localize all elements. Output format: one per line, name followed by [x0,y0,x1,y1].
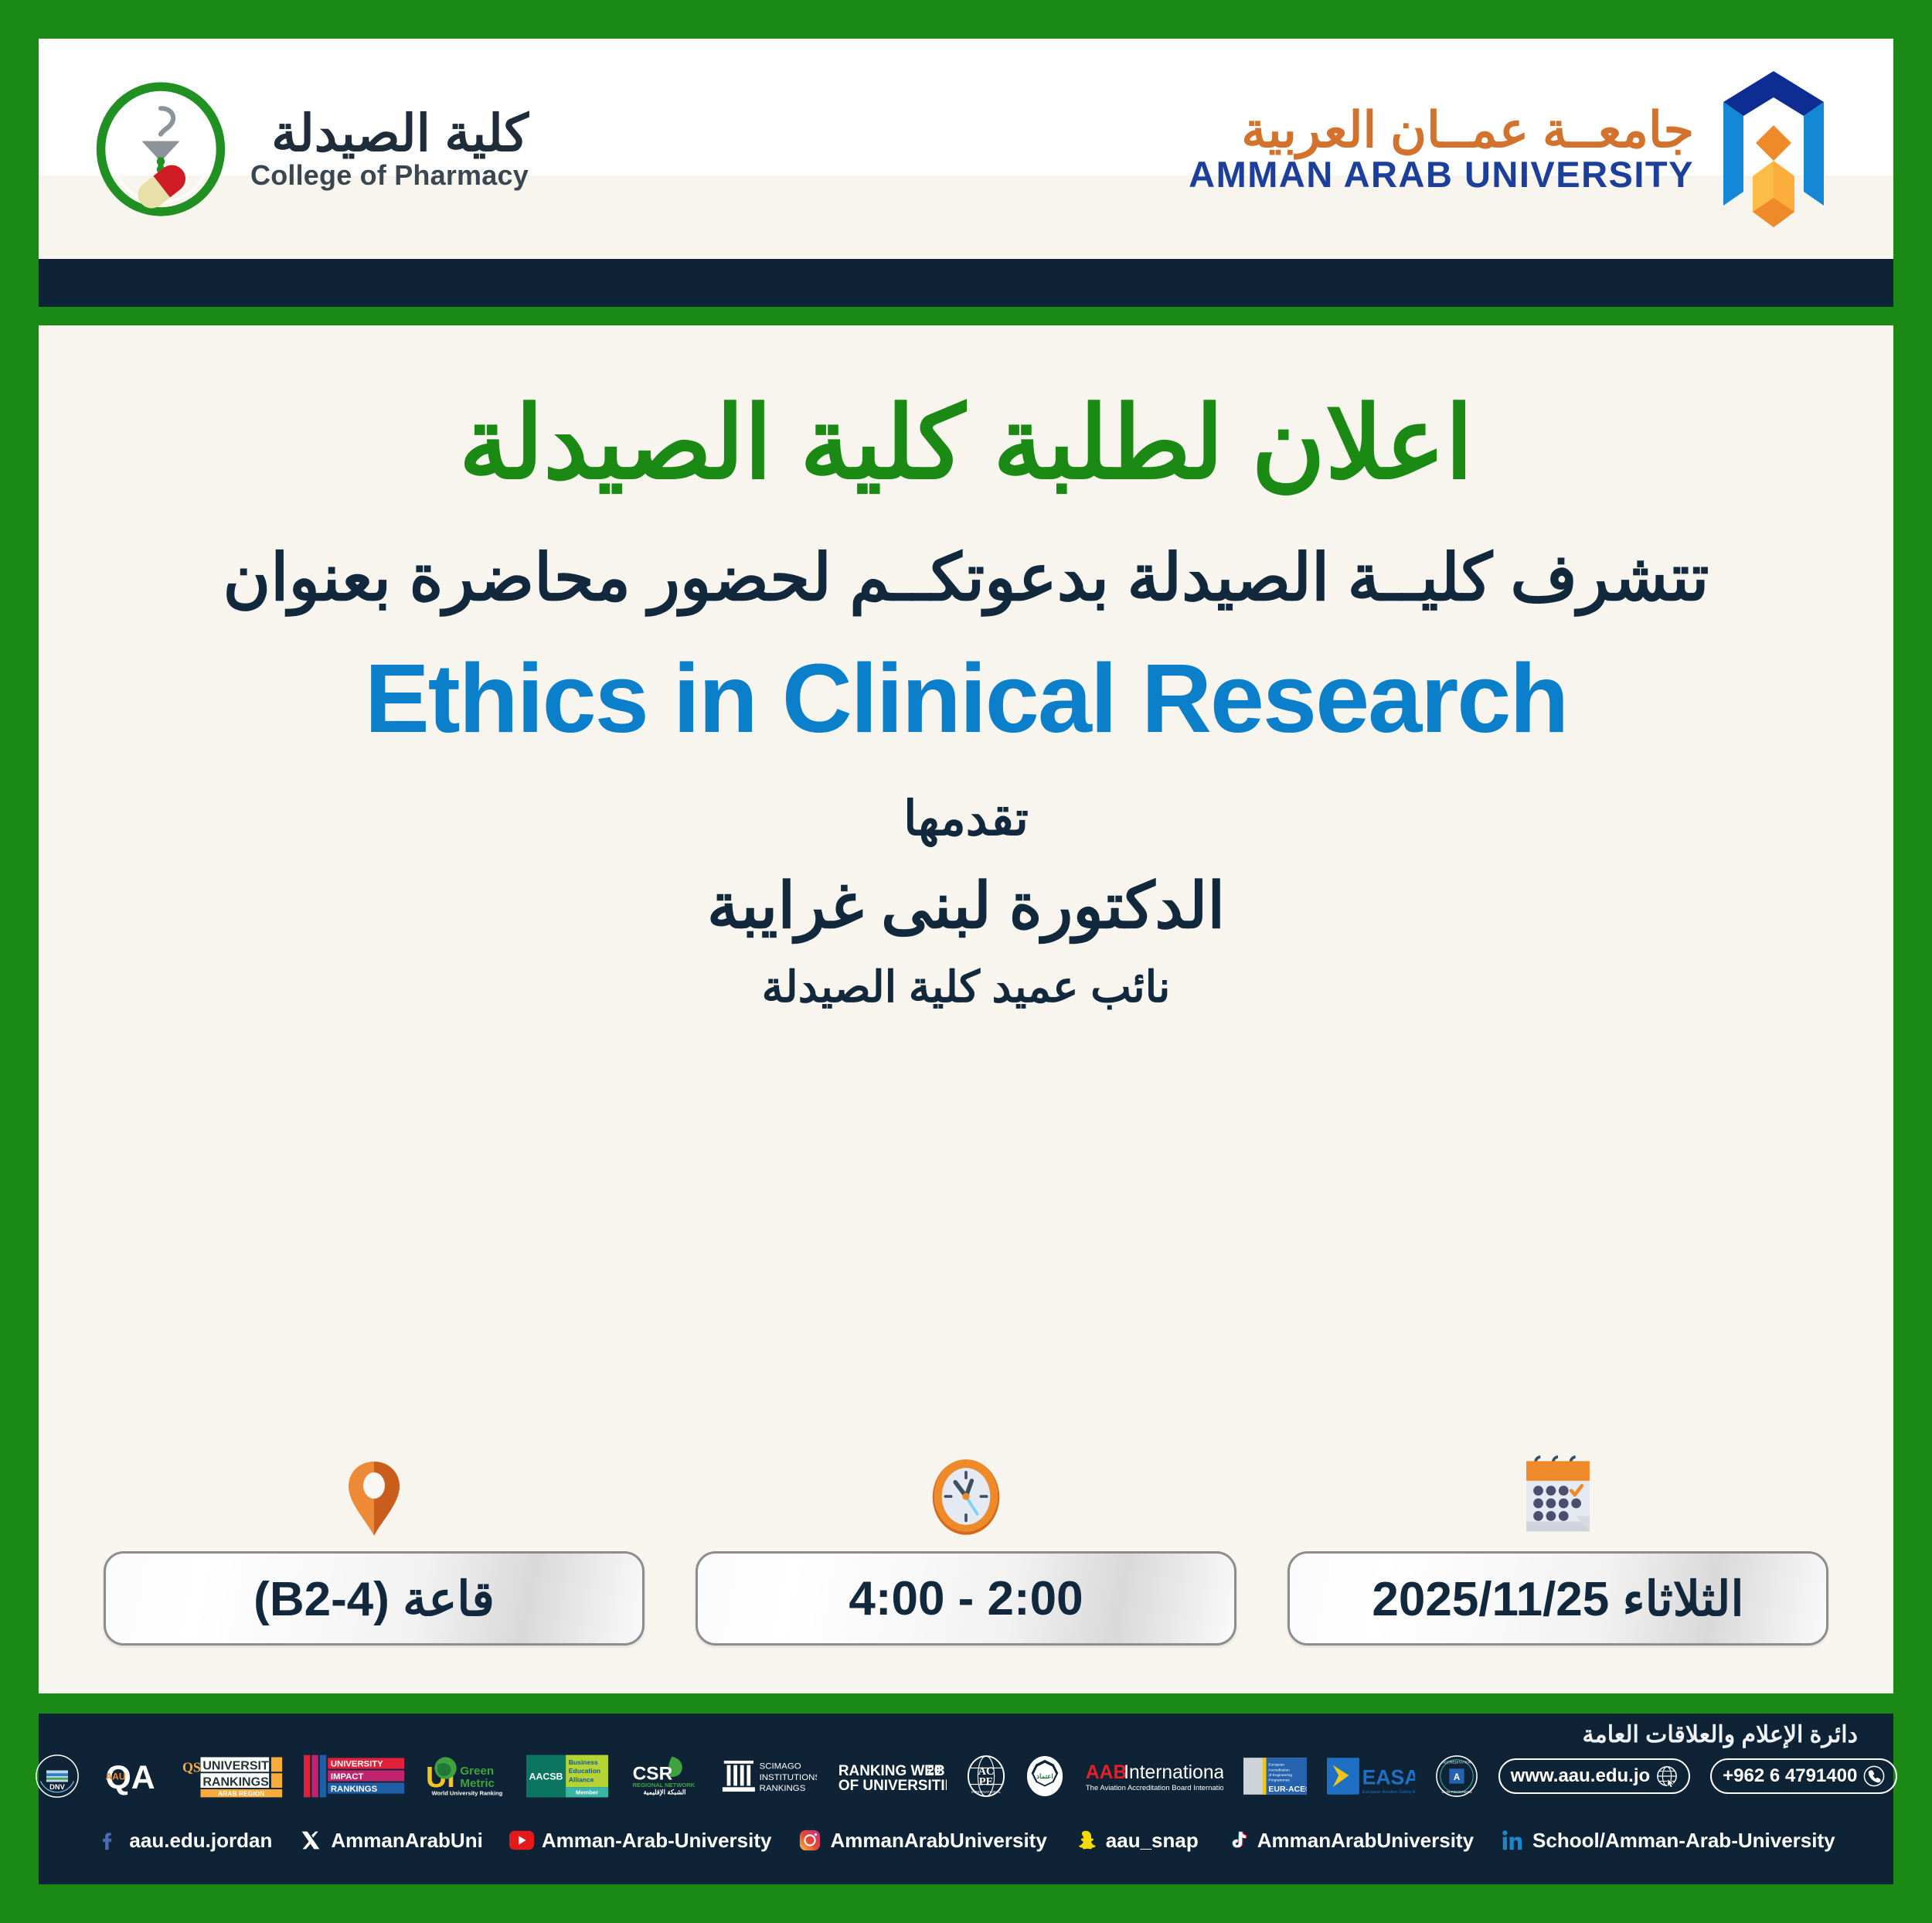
svg-text:ARAB REGION: ARAB REGION [218,1789,264,1797]
social-link-facebook[interactable]: aau.edu.jordan [97,1828,272,1853]
svg-text:SCIMAGO: SCIMAGO [759,1761,801,1771]
svg-text:UNIVERSITY: UNIVERSITY [202,1759,277,1773]
clock-icon [930,1438,1002,1537]
website-chip[interactable]: www.aau.edu.jo [1498,1758,1690,1794]
invitation-subtitle: تتشرف كليــة الصيدلة بدعوتكــم لحضور محا… [39,533,1893,624]
social-link-x[interactable]: AmmanArabUni [298,1828,482,1853]
date-pill: الثلاثاء 2025/11/25 [1287,1551,1828,1646]
location-value: قاعة (B2-4) [253,1571,495,1627]
svg-text:PE: PE [978,1776,992,1789]
poster-footer: دائرة الإعلام والعلاقات العامة DNV QA AA… [39,1714,1893,1884]
event-date-block: الثلاثاء 2025/11/25 [1287,1438,1828,1646]
x-twitter-icon [298,1828,323,1853]
university-english-name: AMMAN ARAB UNIVERSITY [1189,156,1694,192]
pharmacy-mortar-pestle-capsule-logo-icon [93,81,229,217]
svg-text:RANKINGS: RANKINGS [202,1775,269,1789]
college-of-pharmacy-logo: كلية الصيدلة College of Pharmacy [93,81,529,217]
svg-text:A: A [1453,1773,1460,1782]
x-handle: AmmanArabUni [331,1829,482,1853]
svg-text:AACSB: AACSB [529,1772,563,1782]
linkedin-handle: School/Amman-Arab-University [1532,1829,1835,1853]
globe-cursor-icon [1656,1765,1678,1787]
poster-frame: كلية الصيدلة College of Pharmacy جامعــة… [19,19,1913,1904]
ranking-web-of-universities-badge-icon: RANKING WEB OF UNIVERSITIES 20 th [837,1754,947,1799]
svg-text:Education: Education [569,1767,600,1775]
tiktok-handle: AmmanArabUniversity [1257,1829,1474,1853]
phone-number: +962 6 4791400 [1723,1765,1857,1787]
snapchat-icon [1073,1828,1098,1853]
social-link-tiktok[interactable]: AmmanArabUniversity [1225,1828,1474,1853]
social-links-row: aau.edu.jordan AmmanArabUni Amman-Arab-U… [39,1828,1893,1853]
calendar-icon [1519,1438,1597,1537]
social-link-linkedin[interactable]: School/Amman-Arab-University [1500,1828,1835,1853]
svg-text:EUR-ACE®: EUR-ACE® [1268,1785,1307,1794]
event-location-block: قاعة (B2-4) [104,1438,645,1646]
event-details-row: قاعة (B2-4) [39,1438,1893,1646]
islamic-accreditation-badge-icon: اعتماد [1026,1754,1064,1799]
svg-text:Programmes: Programmes [1268,1778,1290,1783]
svg-text:الشبكة الإقليمية: الشبكة الإقليمية [643,1789,685,1797]
svg-text:of Engineering: of Engineering [1268,1773,1292,1778]
svg-text:Accreditation: Accreditation [1268,1768,1290,1772]
svg-text:The Aviation Accreditation Boa: The Aviation Accreditation Board Interna… [1086,1784,1223,1792]
aab-international-badge-icon: AAB International The Aviation Accredita… [1084,1754,1223,1799]
svg-text:IMPACT: IMPACT [331,1772,364,1782]
page-title: اعلان لطلبة كلية الصيدلة [39,386,1893,502]
youtube-icon [509,1828,534,1853]
instagram-icon [798,1828,822,1853]
lecture-title-english: Ethics in Clinical Research [39,648,1893,750]
header-navy-band [39,259,1893,307]
telephone-icon [1863,1765,1885,1787]
svg-text:RANKINGS: RANKINGS [759,1784,805,1793]
svg-text:Metric: Metric [460,1777,495,1790]
svg-text:OF UNIVERSITIES: OF UNIVERSITIES [838,1778,947,1794]
svg-text:AAB: AAB [1086,1762,1127,1783]
svg-text:INTERNATIONAL: INTERNATIONAL [971,1790,1001,1795]
linkedin-icon [1500,1828,1525,1853]
svg-text:QS: QS [182,1759,201,1775]
svg-text:DNV: DNV [49,1783,65,1791]
svg-text:RANKINGS: RANKINGS [331,1785,378,1794]
social-link-youtube[interactable]: Amman-Arab-University [509,1828,772,1853]
svg-text:th: th [939,1764,944,1771]
svg-text:Business: Business [569,1758,598,1766]
svg-text:INSTITUTIONS: INSTITUTIONS [759,1773,816,1782]
speaker-name: الدكتورة لبنى غرايبة [39,870,1893,943]
easa-badge-icon: EASA European Aviation Safety Agency [1327,1754,1415,1799]
svg-text:European Aviation Safety Agenc: European Aviation Safety Agency [1362,1790,1414,1795]
poster-header: كلية الصيدلة College of Pharmacy جامعــة… [39,39,1893,259]
aau-qa-badge-icon: QA AAU [100,1754,162,1799]
acpe-international-badge-icon: AC PE INTERNATIONAL [967,1754,1005,1799]
svg-text:IS IN PROGRESS: IS IN PROGRESS [1441,1790,1471,1795]
facebook-icon [97,1828,121,1853]
presented-by-label: تقدمها [39,790,1893,846]
svg-text:UNIVERSITY: UNIVERSITY [331,1760,383,1769]
eur-ace-badge-icon: European Accreditation of Engineering Pr… [1243,1754,1307,1799]
csr-regional-network-badge-icon: CSR REGIONAL NETWORK الشبكة الإقليمية [628,1754,701,1799]
svg-text:Alliance: Alliance [569,1776,594,1784]
instagram-handle: AmmanArabUniversity [830,1829,1046,1853]
department-label: دائرة الإعلام والعلاقات العامة [1583,1721,1858,1748]
snapchat-handle: aau_snap [1106,1829,1199,1853]
amman-arab-university-logo: جامعــة عمــان العربية AMMAN ARAB UNIVER… [1189,68,1839,230]
social-link-snapchat[interactable]: aau_snap [1073,1828,1199,1853]
scimago-institutions-rankings-badge-icon: SCIMAGO INSTITUTIONS RANKINGS [721,1754,817,1799]
ui-greenmetric-badge-icon: UI Green Metric World University Ranking [426,1754,506,1799]
website-url: www.aau.edu.jo [1511,1765,1650,1787]
svg-text:Member: Member [576,1789,598,1796]
location-pill: قاعة (B2-4) [104,1551,645,1646]
poster-body: اعلان لطلبة كلية الصيدلة تتشرف كليــة ال… [39,325,1893,1693]
amman-arab-university-hexagon-logo-icon [1708,68,1839,230]
facebook-handle: aau.edu.jordan [129,1829,272,1853]
svg-text:EASA: EASA [1362,1765,1414,1789]
svg-text:World University Ranking: World University Ranking [431,1790,502,1797]
svg-text:AAU: AAU [105,1772,125,1782]
accreditation-in-progress-badge-icon: A ACCREDITATION IS IN PROGRESS [1435,1754,1478,1799]
event-time-block: 2:00 - 4:00 [696,1438,1236,1646]
pharmacy-english-name: College of Pharmacy [250,160,529,191]
svg-text:اعتماد: اعتماد [1036,1772,1053,1780]
the-university-impact-rankings-badge-icon: UNIVERSITY IMPACT RANKINGS [304,1754,406,1799]
time-pill: 2:00 - 4:00 [696,1551,1236,1646]
svg-text:International: International [1124,1762,1223,1783]
accreditation-badges-row: DNV QA AAU QS UNIVERSITY RANKINGS [39,1754,1893,1799]
pharmacy-arabic-name: كلية الصيدلة [250,107,529,158]
svg-text:Green: Green [460,1765,494,1778]
time-value: 2:00 - 4:00 [849,1571,1083,1626]
date-value: الثلاثاء 2025/11/25 [1372,1571,1743,1627]
social-link-instagram[interactable]: AmmanArabUniversity [798,1828,1046,1853]
phone-chip[interactable]: +962 6 4791400 [1710,1758,1897,1794]
qs-university-rankings-badge-icon: QS UNIVERSITY RANKINGS ARAB REGION [182,1754,284,1799]
aacsb-business-education-alliance-badge-icon: AACSB Business Education Alliance Member [526,1754,608,1799]
location-pin-icon [347,1438,401,1537]
svg-text:ACCREDITATION: ACCREDITATION [1441,1761,1471,1765]
dnv-iso-badge-icon: DNV [35,1754,80,1799]
speaker-role: نائب عميد كلية الصيدلة [39,961,1893,1013]
tiktok-icon [1225,1828,1250,1853]
university-arabic-name: جامعــة عمــان العربية [1241,105,1694,155]
youtube-handle: Amman-Arab-University [542,1829,772,1853]
svg-text:European: European [1268,1763,1284,1768]
